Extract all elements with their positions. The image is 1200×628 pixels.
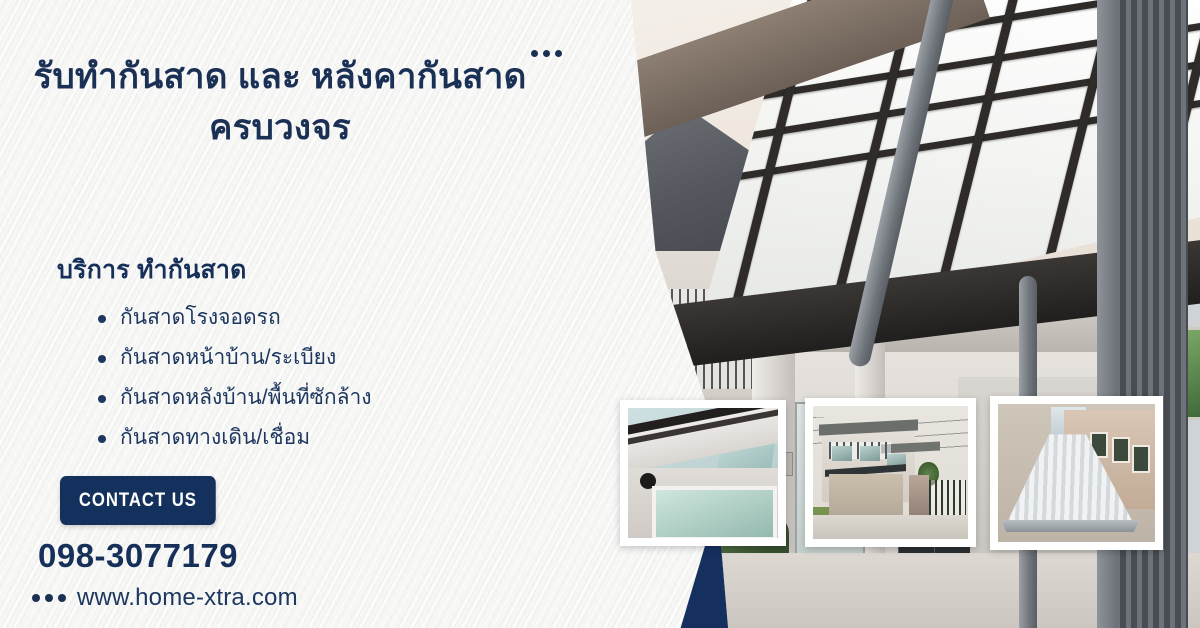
thumbnail-photo-2 <box>805 398 976 547</box>
website-row[interactable]: www.home-xtra.com <box>32 584 298 612</box>
content-column: รับทำกันสาด และ หลังคากันสาด ครบวงจร บริ… <box>0 0 600 628</box>
website-url[interactable]: www.home-xtra.com <box>77 584 298 612</box>
services-list: กันสาดโรงจอดรถ กันสาดหน้าบ้าน/ระเบียง กั… <box>86 298 372 458</box>
headline-line-1: รับทำกันสาด และ หลังคากันสาด <box>34 57 527 96</box>
contact-us-button[interactable]: CONTACT US <box>60 476 216 525</box>
phone-number[interactable]: 098-3077179 <box>38 537 238 575</box>
thumbnail-photo-1 <box>620 400 786 546</box>
list-item: กันสาดทางเดิน/เชื่อม <box>86 418 372 458</box>
three-dots-icon <box>531 50 562 57</box>
advertisement-banner: รับทำกันสาด และ หลังคากันสาด ครบวงจร บริ… <box>0 0 1200 628</box>
thumbnail-photo-3 <box>990 396 1163 550</box>
list-item: กันสาดโรงจอดรถ <box>86 298 372 338</box>
list-item: กันสาดหน้าบ้าน/ระเบียง <box>86 338 372 378</box>
headline-line-2: ครบวงจร <box>0 103 560 154</box>
services-heading: บริการ ทำกันสาด <box>57 250 247 290</box>
page-title: รับทำกันสาด และ หลังคากันสาด ครบวงจร <box>0 52 560 154</box>
list-item: กันสาดหลังบ้าน/พื้นที่ซักล้าง <box>86 378 372 418</box>
three-dots-bullet-icon <box>32 594 66 602</box>
